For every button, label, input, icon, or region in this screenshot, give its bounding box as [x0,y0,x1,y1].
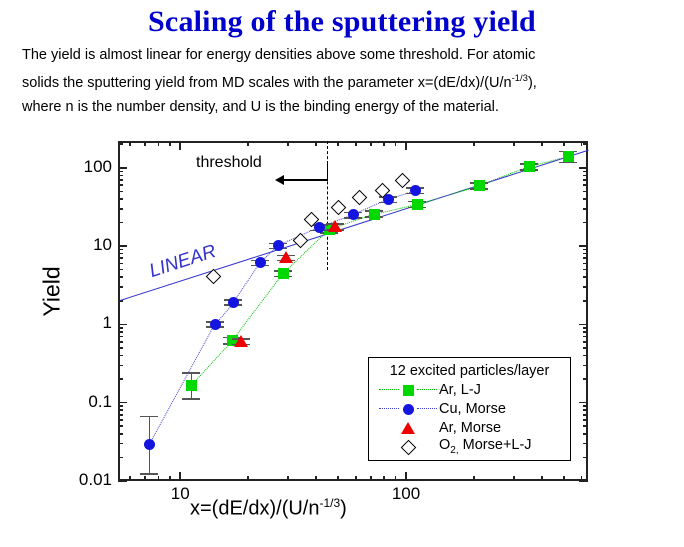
data-point-triangle [401,422,415,434]
y-tick-right [583,286,588,288]
x-tick [144,476,146,481]
x-tick [169,476,171,481]
y-tick-right [579,402,588,404]
data-point-square [278,268,289,279]
y-tick-right [583,409,588,411]
x-tick-top [513,141,515,146]
legend-symbol [377,400,439,418]
data-point-circle [348,209,359,220]
data-point-square [524,161,535,172]
y-tick-right [583,276,588,278]
y-tick [118,143,123,145]
legend-item-1[interactable]: Cu, Morse [369,399,570,418]
x-tick [337,476,339,481]
y-tick [118,257,123,259]
y-tick-label: 1 [20,313,112,333]
y-tick-right [583,191,588,193]
error-bar-cap-bottom [140,473,158,475]
x-tick [370,476,372,481]
y-tick-right [583,347,588,349]
chart-legend: 12 excited particles/layer Ar, L-JCu, Mo… [368,357,571,461]
legend-label: Ar, Morse [439,420,501,436]
data-point-circle [403,404,414,415]
y-tick [118,171,123,173]
threshold-arrow-head [275,175,284,185]
y-tick-label: 0.01 [20,470,112,490]
y-tick [118,409,123,411]
y-tick [118,402,127,404]
y-tick-right [583,331,588,333]
y-tick-label: 10 [20,235,112,255]
legend-item-2[interactable]: Ar, Morse [369,418,570,437]
y-tick-right [583,175,588,177]
data-point-circle [314,222,325,233]
y-tick-right [583,249,588,251]
x-tick [383,476,385,481]
y-tick-right [583,336,588,338]
threshold-arrow-riser [327,161,329,181]
y-tick [118,457,123,459]
x-tick-top [129,141,131,146]
x-tick-top [395,141,397,146]
data-point-circle [210,319,221,330]
x-tick-label: 10 [154,484,206,504]
data-point-triangle [234,335,248,347]
x-tick-top [169,141,171,146]
y-tick [118,480,127,482]
x-tick-top [247,141,249,146]
y-tick [118,184,123,186]
y-tick-right [583,143,588,145]
legend-item-3[interactable]: O2, Morse+L-J [369,437,570,456]
y-tick [118,167,127,169]
x-tick-top [473,141,475,146]
y-tick [118,336,123,338]
data-point-square [474,180,485,191]
x-axis-label-pre: x=(dE/dx)/(U/n [190,498,319,520]
data-point-circle [273,240,284,251]
legend-line-dash [379,408,399,409]
x-tick [473,476,475,481]
y-tick [118,425,123,427]
x-axis-label: x=(dE/dx)/(U/n-1/3) [190,496,347,521]
data-point-square [412,199,423,210]
y-tick-right [583,365,588,367]
x-tick-top [287,141,289,146]
y-tick-right [583,419,588,421]
y-tick-right [583,405,588,407]
y-tick-right [579,324,588,326]
legend-line-dash [417,389,437,390]
x-tick-top [337,141,339,146]
legend-symbol [377,438,439,456]
y-tick-right [583,171,588,173]
legend-symbol [377,419,439,437]
y-tick-right [583,414,588,416]
data-point-square [186,380,197,391]
x-tick-top [179,141,181,150]
y-tick [118,269,123,271]
x-tick-top [541,141,543,146]
x-tick [355,476,357,481]
data-point-square [403,385,414,396]
x-tick [315,476,317,481]
x-tick-top [581,141,583,146]
x-tick-top [383,141,385,146]
threshold-annotation-label: threshold [196,154,262,172]
legend-label: Ar, L-J [439,382,481,398]
x-tick-top [144,141,146,146]
error-bar-cap-top [140,416,158,418]
y-tick-right [583,341,588,343]
y-tick-right [583,257,588,259]
y-tick [118,341,123,343]
legend-line-dash [379,389,399,390]
y-tick-right [583,198,588,200]
error-bar-cap-top [182,372,200,374]
y-tick-right [583,433,588,435]
y-tick [118,355,123,357]
y-tick [118,324,127,326]
x-tick [581,476,583,481]
y-tick-right [583,179,588,181]
y-tick-right [583,300,588,302]
x-tick [513,476,515,481]
y-tick [118,179,123,181]
data-point-square [563,151,574,162]
legend-line-dash [417,408,437,409]
x-tick [405,472,407,481]
y-tick-right [579,167,588,169]
legend-label: O2, Morse+L-J [439,437,532,456]
x-tick [158,476,160,481]
x-tick-top [405,141,407,150]
x-axis-label-exponent: -1/3 [319,496,340,510]
x-tick [247,476,249,481]
y-tick [118,222,123,224]
y-tick-right [583,208,588,210]
y-tick [118,414,123,416]
y-tick-right [583,184,588,186]
y-tick [118,175,123,177]
x-tick-top [563,141,565,146]
x-tick [287,476,289,481]
legend-rows: Ar, L-JCu, MorseAr, MorseO2, Morse+L-J [369,380,570,456]
y-tick [118,263,123,265]
y-tick-right [583,222,588,224]
x-tick [563,476,565,481]
data-point-square [369,209,380,220]
x-tick [541,476,543,481]
threshold-arrow-shaft [282,179,327,181]
y-tick-right [583,263,588,265]
y-tick [118,378,123,380]
y-tick [118,286,123,288]
legend-item-0[interactable]: Ar, L-J [369,380,570,399]
y-tick [118,245,127,247]
x-tick-top [370,141,372,146]
y-tick-label: 100 [20,157,112,177]
y-tick [118,405,123,407]
y-tick [118,433,123,435]
x-tick-top [315,141,317,146]
x-tick [395,476,397,481]
data-point-circle [144,439,155,450]
legend-symbol [377,381,439,399]
y-tick-right [583,269,588,271]
y-tick [118,191,123,193]
x-axis-label-post: ) [340,498,347,520]
y-tick [118,276,123,278]
y-tick [118,253,123,255]
y-tick-right [583,253,588,255]
data-point-diamond [401,439,417,455]
data-point-triangle [328,220,342,232]
y-tick-label: 0.1 [20,392,112,412]
y-tick [118,365,123,367]
y-tick [118,327,123,329]
y-tick-right [583,355,588,357]
error-bar-cap-bottom [182,398,200,400]
y-tick [118,331,123,333]
x-tick-top [355,141,357,146]
x-tick-label: 100 [380,484,432,504]
y-tick-right [583,327,588,329]
legend-label: Cu, Morse [439,401,506,417]
x-tick [179,472,181,481]
chart-area: Yield x=(dE/dx)/(U/n-1/3) threshold LINE… [0,0,684,547]
y-tick [118,419,123,421]
y-tick [118,249,123,251]
y-tick-right [583,425,588,427]
y-tick [118,443,123,445]
x-tick [129,476,131,481]
y-tick-right [583,378,588,380]
y-tick [118,347,123,349]
y-tick [118,198,123,200]
y-tick-right [579,245,588,247]
data-point-triangle [279,251,293,263]
y-tick [118,208,123,210]
x-tick-top [158,141,160,146]
y-tick-right [583,443,588,445]
legend-title: 12 excited particles/layer [369,363,570,379]
y-tick-right [583,457,588,459]
